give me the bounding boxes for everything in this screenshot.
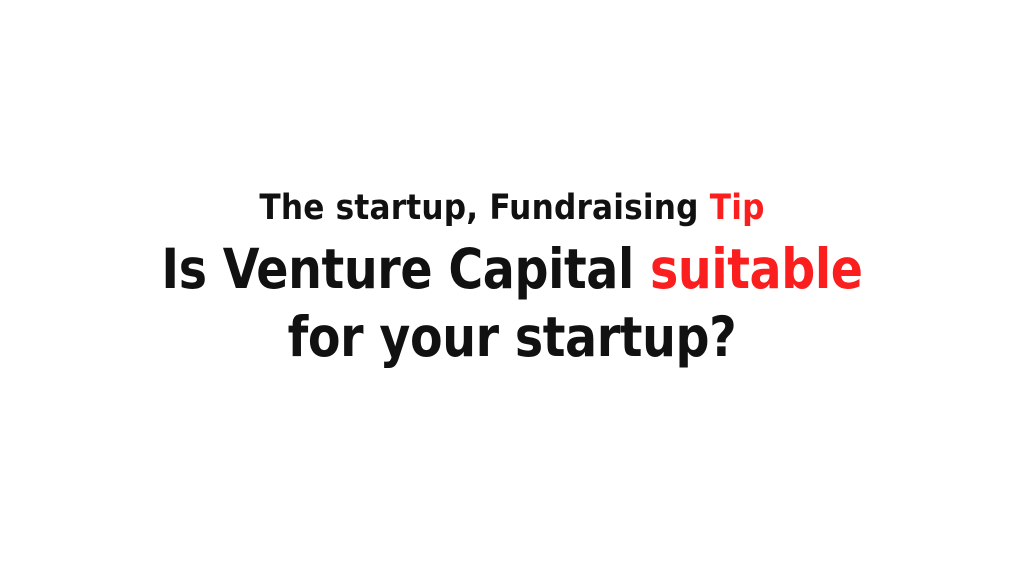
headline-line-2: for your startup? bbox=[20, 306, 1003, 368]
kicker-accent-word: Tip bbox=[710, 188, 765, 228]
headline-line-2-text: for your startup? bbox=[288, 305, 737, 369]
headline-block: The startup, Fundraising Tip Is Venture … bbox=[0, 0, 1024, 576]
headline-line-1-text: Is Venture Capital bbox=[161, 237, 650, 301]
kicker-text: The startup, Fundraising bbox=[259, 188, 709, 228]
kicker-line: The startup, Fundraising Tip bbox=[5, 188, 1019, 228]
headline-accent-word: suitable bbox=[650, 237, 863, 301]
slide-canvas: The startup, Fundraising Tip Is Venture … bbox=[0, 0, 1024, 576]
headline-line-1: Is Venture Capital suitable bbox=[20, 238, 1003, 300]
